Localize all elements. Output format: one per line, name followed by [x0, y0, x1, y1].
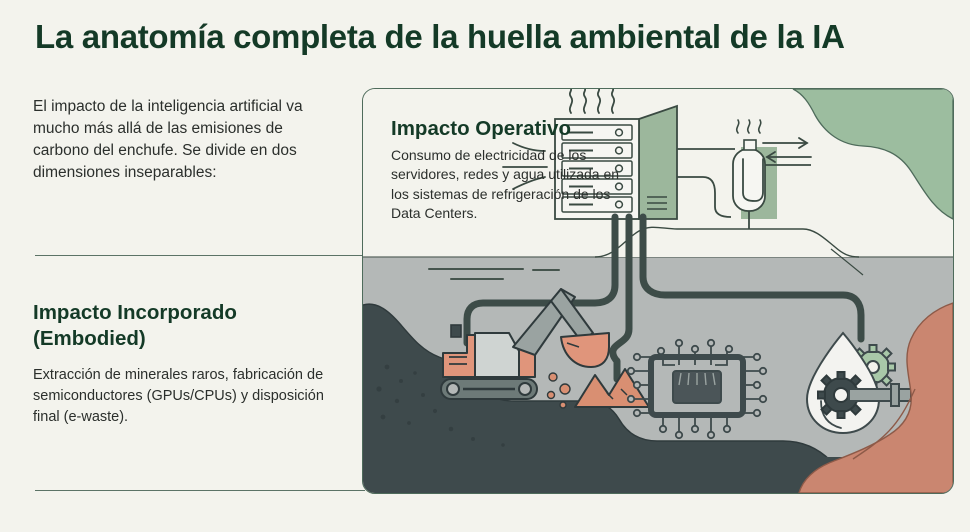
server-unit [562, 125, 632, 140]
rack-side-panel [639, 106, 677, 219]
illustration-panel: Impacto Operativo Consumo de electricida… [362, 88, 954, 494]
excavator-exhaust [451, 325, 461, 337]
divider-top [35, 255, 365, 256]
rack-units [562, 125, 632, 212]
valve-nozzle [899, 389, 911, 401]
server-unit [562, 143, 632, 158]
server-rack [555, 106, 677, 219]
ai-footprint-illustration [363, 89, 953, 493]
tank-cap [744, 140, 756, 150]
excavator-tracks [441, 379, 537, 399]
excavator-cab [475, 333, 519, 377]
tank-vessel [733, 149, 765, 211]
server-unit [562, 161, 632, 176]
server-unit [562, 197, 632, 212]
valve-pipe [849, 389, 893, 401]
page-title: La anatomía completa de la huella ambien… [35, 18, 935, 56]
embodied-heading: Impacto Incorporado (Embodied) [33, 300, 343, 351]
embodied-body: Extracción de minerales raros, fabricaci… [33, 365, 328, 428]
divider-bottom [35, 490, 365, 491]
valve-flange [891, 384, 899, 406]
server-unit [562, 179, 632, 194]
intro-paragraph: El impacto de la inteligencia artificial… [33, 96, 333, 184]
